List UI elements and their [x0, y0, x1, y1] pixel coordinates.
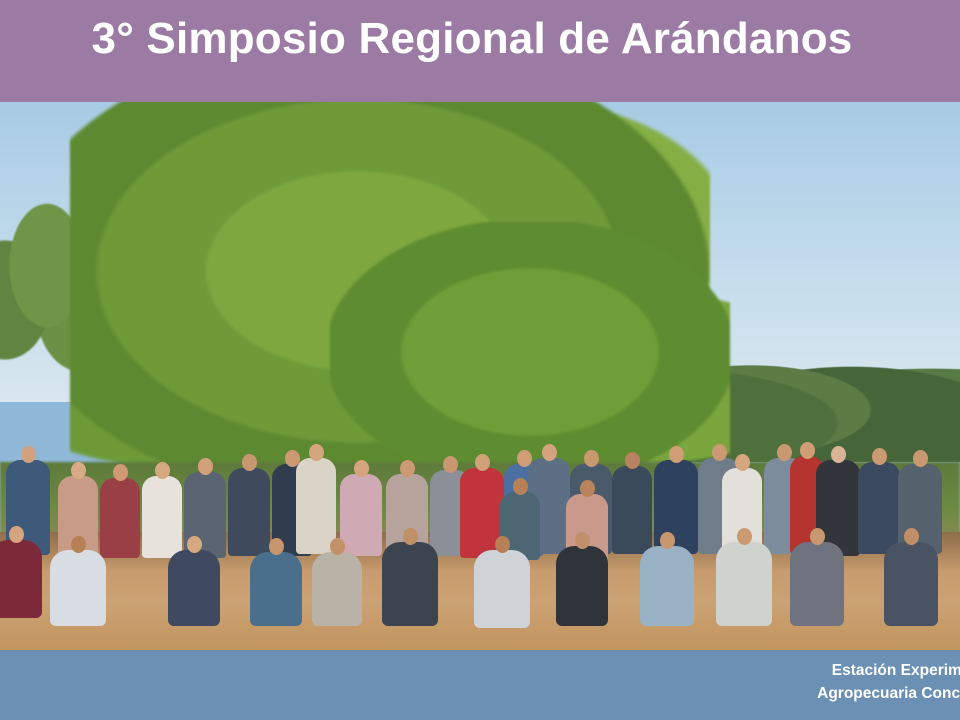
- person-figure: [50, 550, 106, 626]
- person-figure: [640, 546, 694, 626]
- footer-bar: Estación Experimental Agropecuaria Conco…: [0, 650, 960, 720]
- person-figure: [790, 542, 844, 626]
- slide-title: 3° Simposio Regional de Arándanos: [0, 14, 960, 64]
- group-photo: [0, 102, 960, 650]
- title-bar: 3° Simposio Regional de Arándanos: [0, 0, 960, 102]
- person-figure: [168, 550, 220, 626]
- person-figure: [0, 540, 42, 618]
- institution-label: Estación Experimental Agropecuaria Conco…: [817, 659, 960, 705]
- person-figure: [612, 466, 652, 554]
- person-figure: [312, 552, 362, 626]
- presentation-slide: 3° Simposio Regional de Arándanos: [0, 0, 960, 720]
- person-figure: [228, 468, 270, 556]
- person-figure: [296, 458, 336, 554]
- person-figure: [474, 550, 530, 628]
- person-figure: [250, 552, 302, 626]
- person-figure: [716, 542, 772, 626]
- institution-line-2: Agropecuaria Concordia: [817, 682, 960, 705]
- institution-line-1: Estación Experimental: [817, 659, 960, 682]
- person-figure: [382, 542, 438, 626]
- person-figure: [340, 474, 382, 556]
- people-group: [0, 432, 960, 650]
- person-figure: [556, 546, 608, 626]
- person-figure: [858, 462, 900, 554]
- person-figure: [884, 542, 938, 626]
- person-figure: [142, 476, 182, 558]
- person-figure: [100, 478, 140, 558]
